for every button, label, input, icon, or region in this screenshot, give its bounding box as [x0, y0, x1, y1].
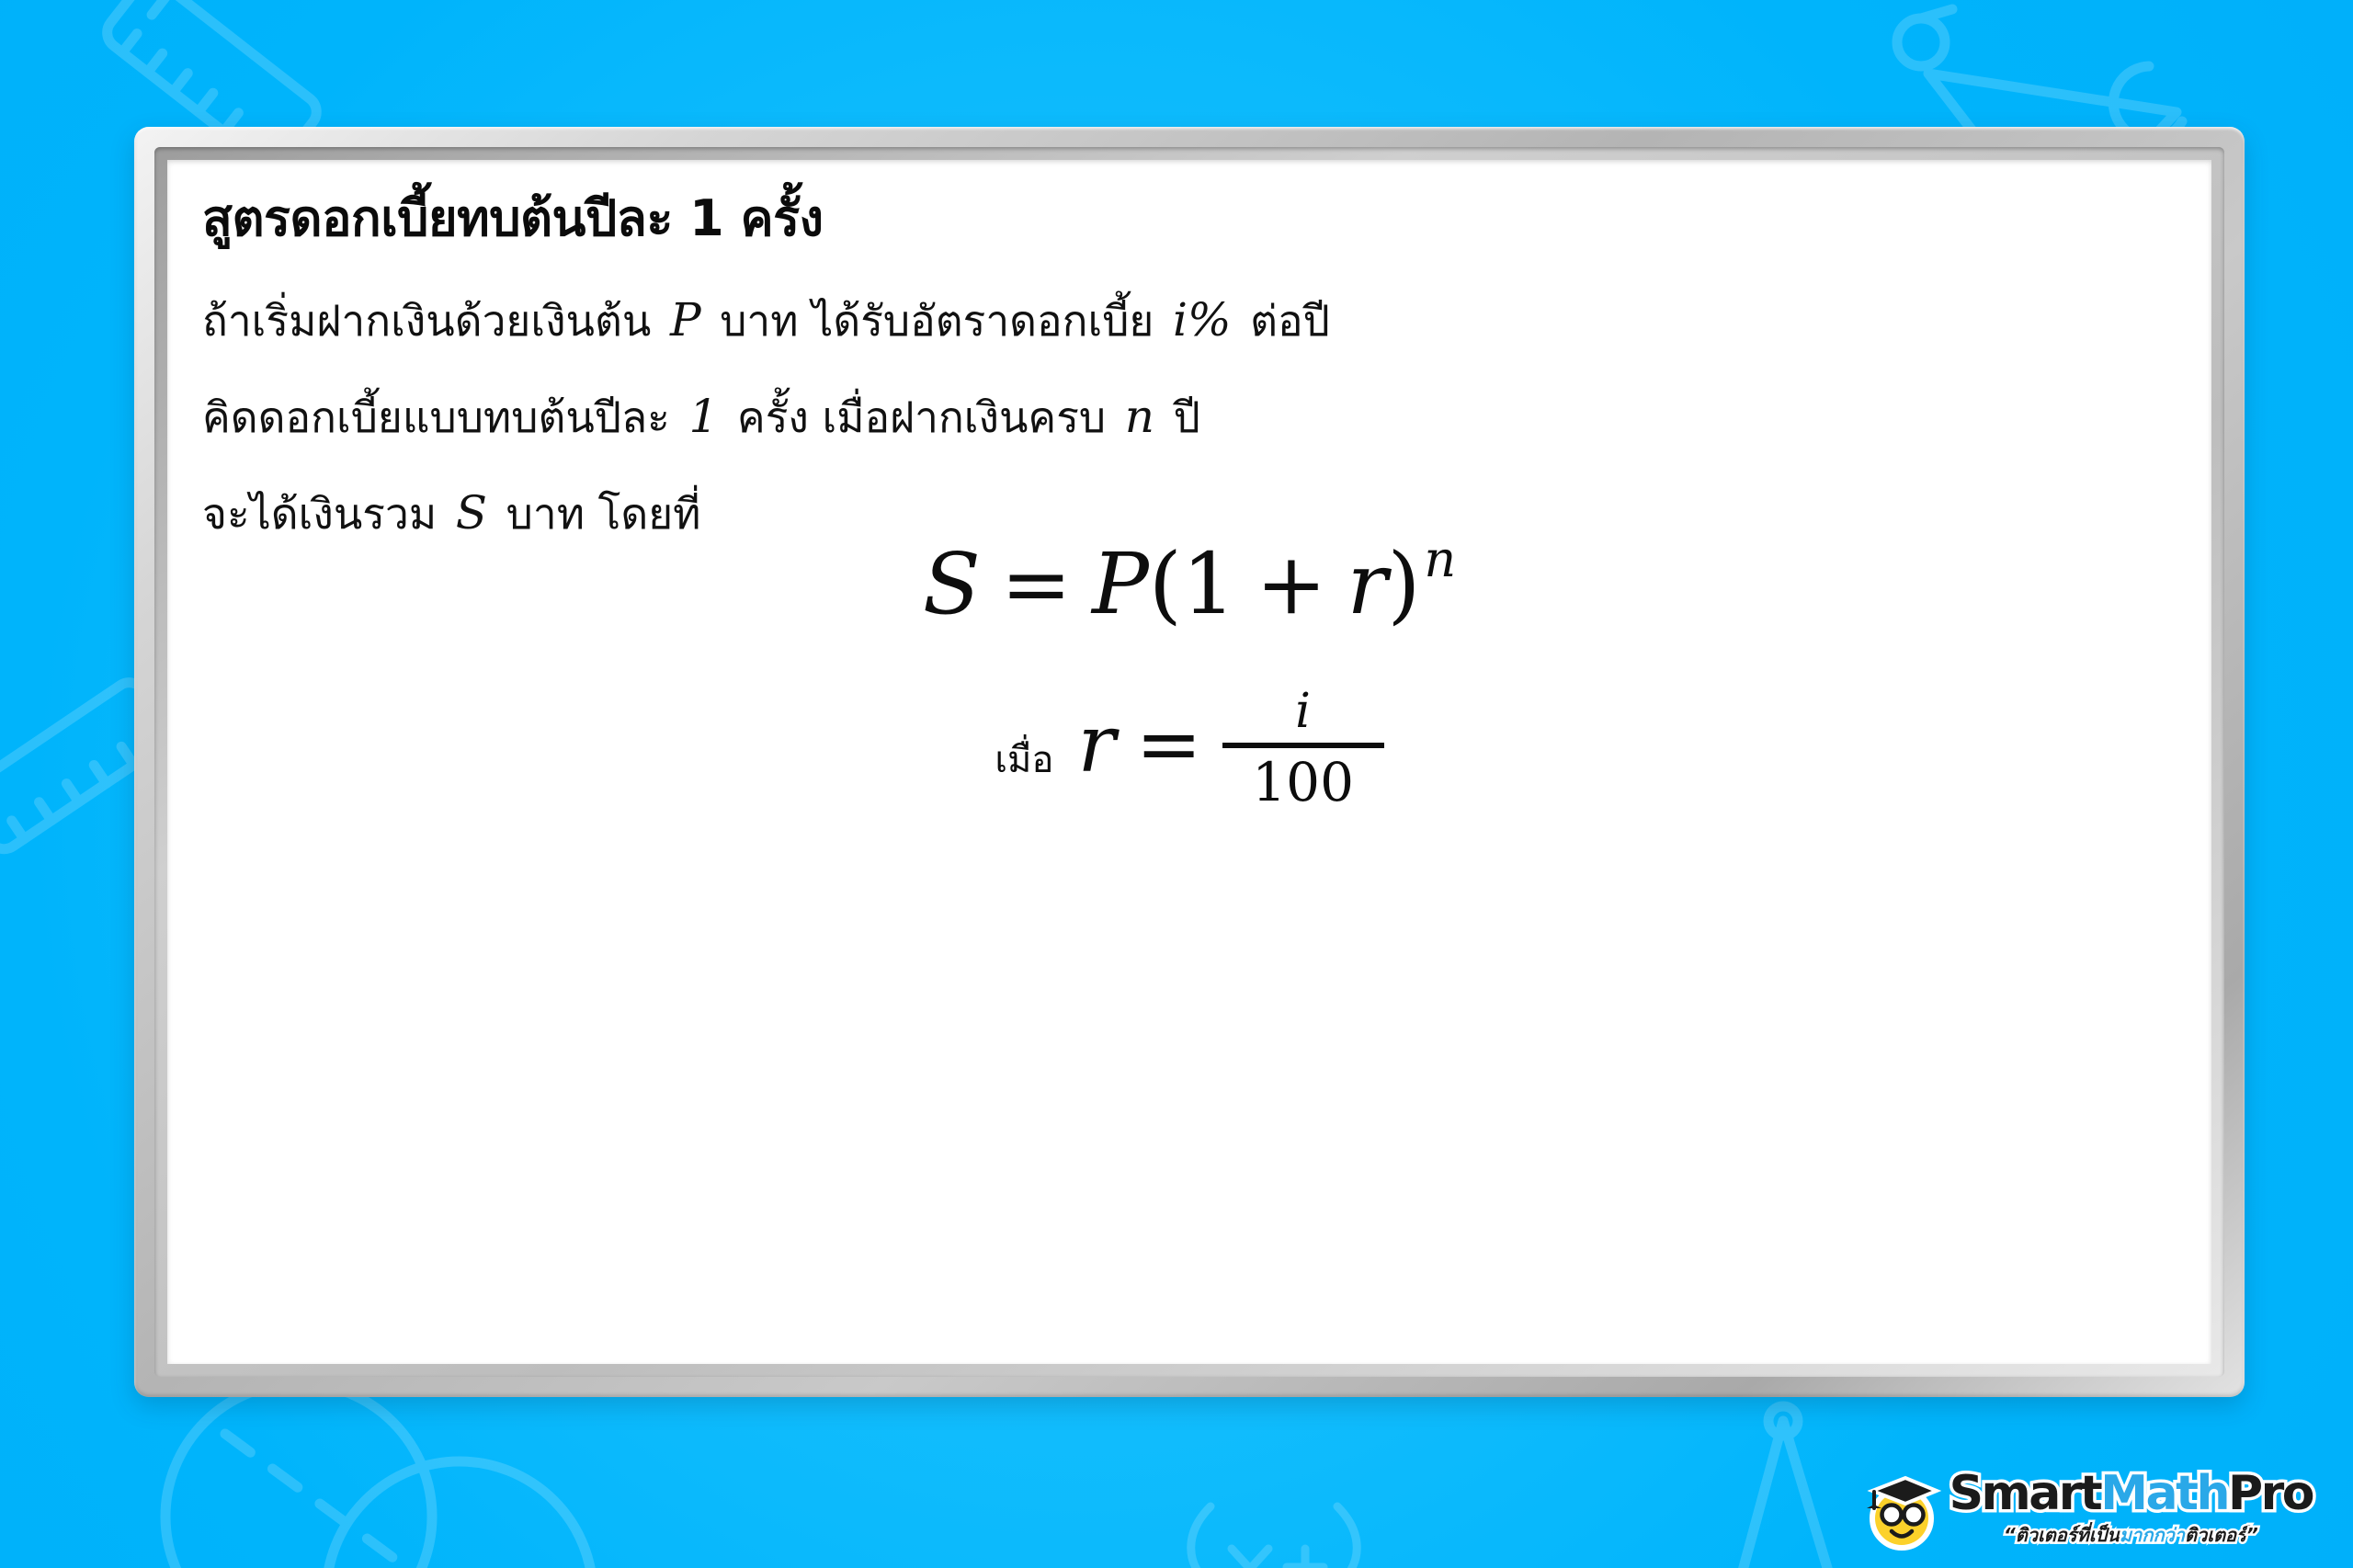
tagline-part2: ติวเตอร์	[2185, 1524, 2246, 1546]
variable-one: 1	[683, 390, 723, 443]
logo-word-smart: Smart	[1949, 1466, 2101, 1521]
fraction-i-over-100: i 100	[1222, 687, 1384, 809]
logo-word-math: Math	[2100, 1466, 2228, 1521]
whiteboard-inner-bevel: สูตรดอกเบี้ยทบต้นปีละ 1 ครั้ง ถ้าเริ่มฝา…	[154, 147, 2224, 1377]
logo-tagline: “ติวเตอร์ที่เป็นมากกว่าติวเตอร์”	[1949, 1520, 2313, 1550]
body-text: ต่อปี	[1250, 296, 1330, 346]
body-text: บาท ได้รับอัตราดอกเบี้ย	[720, 296, 1154, 346]
tagline-open-quote: “	[2004, 1524, 2016, 1546]
expression-doodle-icon	[1144, 1475, 1420, 1568]
body-text-block: ถ้าเริ่มฝากเงินด้วยเงินต้น P บาท ได้รับอ…	[202, 272, 1949, 562]
brand-logo: SmartMathPro “ติวเตอร์ที่เป็นมากกว่าติวเ…	[1863, 1467, 2313, 1551]
formula-exponent: n	[1420, 530, 1456, 588]
formula-one: 1	[1182, 535, 1236, 633]
body-text: จะได้เงินรวม	[202, 489, 437, 539]
formula-compound-interest: S=P(1+r)n	[167, 535, 2211, 633]
fraction-numerator: i	[1280, 687, 1325, 743]
variable-p: P	[665, 293, 707, 347]
slide-canvas: สูตรดอกเบี้ยทบต้นปีละ 1 ครั้ง ถ้าเริ่มฝา…	[0, 0, 2353, 1568]
formula-lhs: S	[923, 535, 981, 633]
body-text: คิดดอกเบี้ยแบบทบต้นปีละ	[202, 392, 670, 442]
tagline-close-quote: ”	[2246, 1524, 2258, 1546]
formula-rate-equals: =	[1136, 699, 1202, 790]
formula-plus: +	[1235, 535, 1347, 633]
variable-n: n	[1120, 390, 1160, 443]
formula-principal: P	[1092, 535, 1149, 633]
graduate-smiley-icon	[1863, 1467, 1942, 1551]
variable-i-percent: i%	[1167, 293, 1237, 347]
body-line: คิดดอกเบี้ยแบบทบต้นปีละ 1 ครั้ง เมื่อฝาก…	[202, 369, 1949, 465]
body-text: บาท โดยที่	[506, 489, 701, 539]
formula-prefix-label: เมื่อ	[995, 730, 1053, 789]
formula-rate: r	[1347, 535, 1387, 633]
body-text: ครั้ง เมื่อฝากเงินครบ	[737, 392, 1106, 442]
fraction-denominator: 100	[1252, 748, 1354, 809]
body-line: ถ้าเริ่มฝากเงินด้วยเงินต้น P บาท ได้รับอ…	[202, 272, 1949, 369]
logo-wordmark: SmartMathPro	[1949, 1470, 2313, 1517]
body-text: ถ้าเริ่มฝากเงินด้วยเงินต้น	[202, 296, 651, 346]
whiteboard-frame: สูตรดอกเบี้ยทบต้นปีละ 1 ครั้ง ถ้าเริ่มฝา…	[134, 127, 2245, 1397]
tagline-part1: ติวเตอร์ที่เป็น	[2016, 1524, 2120, 1546]
intersecting-circles-icon	[138, 1379, 616, 1568]
page-title: สูตรดอกเบี้ยทบต้นปีละ 1 ครั้ง	[202, 178, 824, 257]
variable-s: S	[450, 486, 493, 540]
logo-word-pro: Pro	[2228, 1466, 2313, 1521]
body-text: ปี	[1174, 392, 1200, 442]
formula-rate-definition: เมื่อ r = i 100	[167, 684, 2211, 805]
formula-rate-expression: r = i 100	[1077, 684, 1383, 805]
formula-close-paren: )	[1387, 535, 1420, 633]
tagline-highlight: มากกว่า	[2120, 1524, 2185, 1546]
formula-open-paren: (	[1149, 535, 1182, 633]
formula-equals: =	[981, 535, 1092, 633]
formula-rate-lhs: r	[1077, 699, 1115, 790]
logo-text-group: SmartMathPro “ติวเตอร์ที่เป็นมากกว่าติวเ…	[1949, 1470, 2313, 1551]
whiteboard-surface: สูตรดอกเบี้ยทบต้นปีละ 1 ครั้ง ถ้าเริ่มฝา…	[167, 160, 2211, 1364]
